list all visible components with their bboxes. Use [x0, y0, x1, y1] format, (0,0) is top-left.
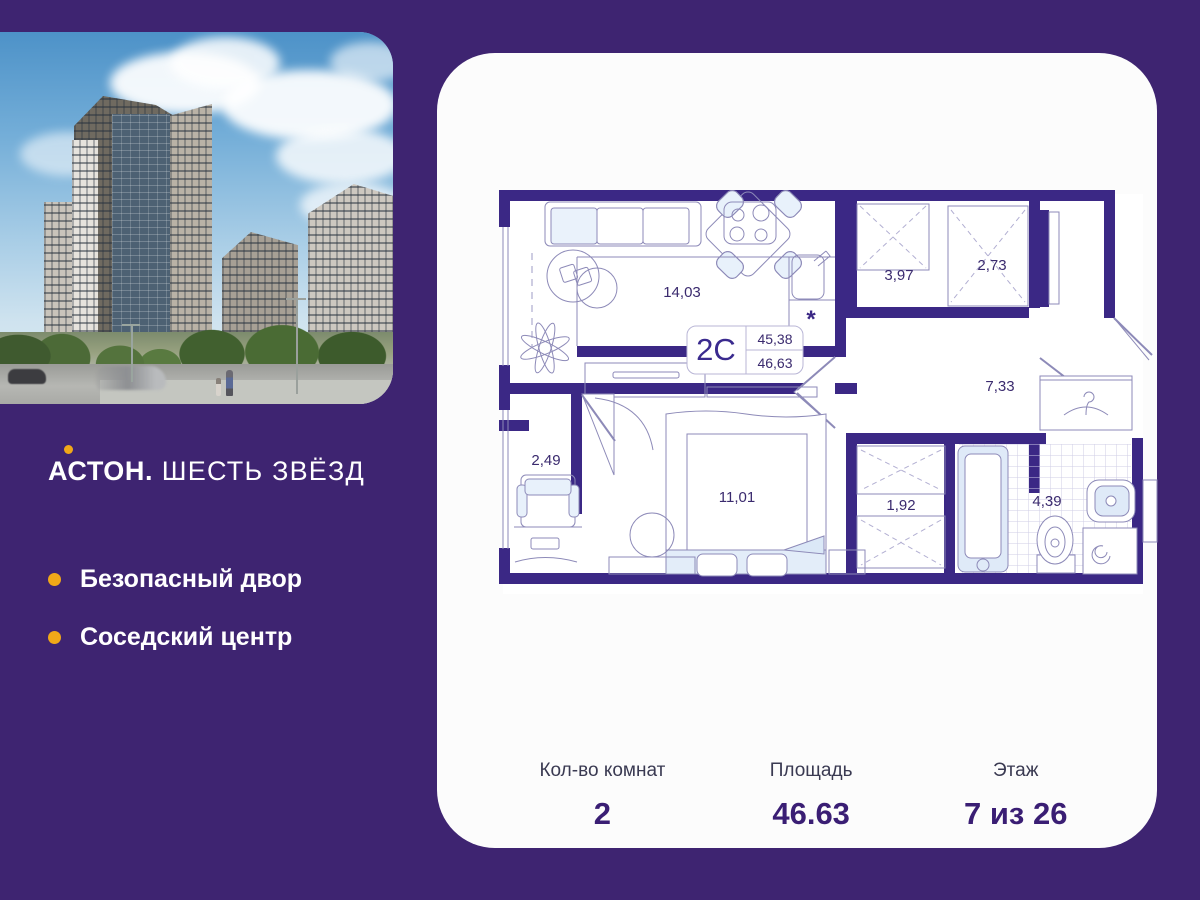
bullet-icon: [48, 573, 61, 586]
bullet-icon: [48, 631, 61, 644]
car-parked: [8, 369, 46, 384]
room-label-balcony: 2,49: [531, 452, 560, 469]
left-panel: АСТОН. ШЕСТЬ ЗВЁЗД Безопасный двор Сосед…: [0, 0, 437, 900]
badge-area-total: 46,63: [757, 355, 792, 371]
floorplan-diagram[interactable]: 14,03 3,97 2,73 7,33 2,49 11,01 1,92 4,3…: [489, 180, 1168, 600]
feature-label: Безопасный двор: [80, 565, 302, 594]
pedestrian-adult: [226, 370, 233, 396]
hero-image: [0, 32, 393, 404]
stat-area-label: Площадь: [708, 761, 915, 780]
room-label-living: 14,03: [663, 284, 701, 301]
apartment-type-badge: 2С 45,38 46,63: [687, 326, 803, 374]
room-label-bathroom: 4,39: [1032, 493, 1061, 510]
brand-name-period: .: [145, 456, 153, 486]
brand-name-secondary: ШЕСТЬ ЗВЁЗД: [153, 456, 365, 486]
feature-label: Соседский центр: [80, 623, 292, 652]
pedestrian-child: [216, 378, 221, 396]
floorplan-card: 14,03 3,97 2,73 7,33 2,49 11,01 1,92 4,3…: [437, 53, 1157, 848]
stat-floor-value: 7 из 26: [914, 798, 1117, 829]
feature-list: Безопасный двор Соседский центр: [48, 550, 302, 666]
feature-item: Соседский центр: [48, 608, 302, 666]
stat-area: Площадь 46.63: [708, 761, 915, 851]
street-lamp: [131, 324, 133, 382]
ground: [0, 332, 393, 404]
hanger-niche: [1040, 376, 1132, 430]
stat-floor-label: Этаж: [914, 761, 1117, 780]
badge-type: 2С: [696, 332, 736, 367]
stat-area-value: 46.63: [708, 798, 915, 829]
brand-name-primary: АСТОН: [48, 456, 145, 486]
stat-rooms-label: Кол-во комнат: [497, 761, 708, 780]
summary-stats: Кол-во комнат 2 Площадь 46.63 Этаж 7 из …: [497, 761, 1117, 851]
feature-item: Безопасный двор: [48, 550, 302, 608]
brand-dot-icon: [64, 445, 73, 454]
stat-floor: Этаж 7 из 26: [914, 761, 1117, 851]
room-label-wardrobe: 1,92: [886, 497, 915, 514]
room-label-bedroom: 11,01: [719, 489, 755, 506]
brand-logo: АСТОН. ШЕСТЬ ЗВЁЗД: [48, 456, 365, 487]
stat-rooms: Кол-во комнат 2: [497, 761, 708, 851]
room-label-loggia: 2,73: [977, 257, 1006, 274]
badge-area-living: 45,38: [757, 331, 792, 347]
room-label-hall: 7,33: [985, 378, 1014, 395]
stat-rooms-value: 2: [497, 798, 708, 829]
street-lamp: [296, 298, 298, 394]
room-label-kitchen: 3,97: [884, 267, 913, 284]
utility-marker-icon: *: [806, 306, 816, 333]
